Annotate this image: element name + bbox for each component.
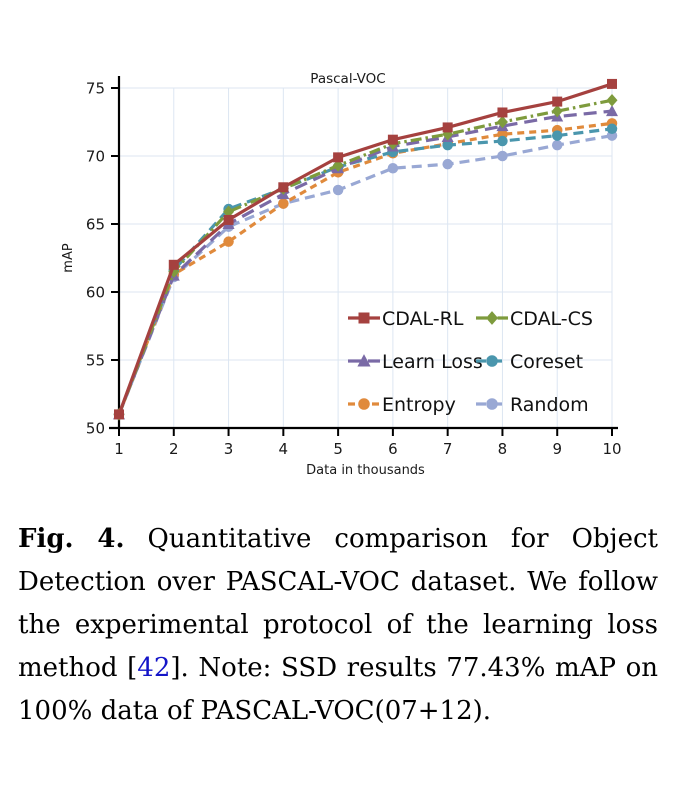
legend-item-cdal-rl[interactable]: CDAL-RL [348, 308, 464, 330]
data-point-marker [114, 409, 124, 419]
legend-marker-diamond-icon [486, 311, 498, 325]
x-axis-title: Data in thousands [306, 463, 425, 478]
legend-item-cdal-cs[interactable]: CDAL-CS [476, 308, 593, 330]
data-point-marker [278, 182, 288, 192]
x-tick-label: 8 [498, 440, 508, 458]
legend-item-random[interactable]: Random [476, 394, 589, 416]
data-point-marker [552, 140, 563, 151]
y-tick-label: 60 [86, 284, 105, 302]
data-point-marker [607, 94, 618, 107]
y-tick-label: 50 [86, 420, 105, 438]
x-tick-label: 10 [602, 440, 621, 458]
x-tick-label: 9 [552, 440, 562, 458]
chart-title: Pascal-VOC [310, 71, 385, 87]
legend-label: CDAL-RL [382, 308, 464, 330]
legend-item-entropy[interactable]: Entropy [348, 394, 456, 416]
data-point-marker [333, 185, 344, 196]
legend-marker-square-icon [359, 313, 370, 324]
x-tick-label: 4 [279, 440, 289, 458]
data-point-marker [552, 97, 562, 107]
x-tick-label: 2 [169, 440, 179, 458]
legend-marker-circle-icon [486, 398, 498, 410]
x-tick-label: 1 [114, 440, 124, 458]
citation-link-42[interactable]: 42 [137, 653, 170, 683]
data-point-marker [607, 79, 617, 89]
x-tick-label: 5 [333, 440, 343, 458]
series-entropy [114, 118, 618, 420]
data-point-marker [223, 236, 234, 247]
y-axis-title: mAP [61, 243, 76, 273]
line-chart: 505560657075mAP12345678910Data in thousa… [0, 0, 673, 500]
legend-label: Learn Loss [382, 351, 483, 373]
data-point-marker [552, 130, 563, 141]
data-point-marker [278, 198, 289, 209]
data-point-marker [333, 152, 343, 162]
x-tick-label: 3 [224, 440, 234, 458]
data-point-marker [169, 260, 179, 270]
legend-label: Random [510, 394, 589, 416]
legend-label: Coreset [510, 351, 583, 373]
legend-label: Entropy [382, 394, 456, 416]
data-point-marker [607, 124, 618, 135]
data-point-marker [442, 159, 453, 170]
axes [109, 76, 618, 428]
y-tick-label: 55 [86, 352, 105, 370]
legend-item-coreset[interactable]: Coreset [476, 351, 583, 373]
data-point-marker [443, 122, 453, 132]
figure-caption: Fig. 4. Quantitative comparison for Obje… [18, 518, 658, 733]
x-tick-label: 6 [388, 440, 398, 458]
y-tick-label: 70 [86, 148, 105, 166]
figure-label: Fig. 4. [18, 524, 125, 554]
legend-marker-circle-icon [358, 398, 370, 410]
data-point-marker [497, 136, 508, 147]
x-tick-label: 7 [443, 440, 453, 458]
data-point-marker [497, 151, 508, 162]
legend: CDAL-RLCDAL-CSLearn LossCoresetEntropyRa… [348, 308, 593, 416]
legend-marker-circle-icon [486, 355, 498, 367]
legend-label: CDAL-CS [510, 308, 593, 330]
data-point-marker [497, 107, 507, 117]
series-random [114, 130, 618, 419]
figure-panel: 505560657075mAP12345678910Data in thousa… [0, 0, 673, 500]
y-tick-label: 65 [86, 216, 105, 234]
gridlines [119, 88, 612, 428]
x-axis: 12345678910Data in thousands [114, 428, 621, 478]
y-tick-label: 75 [86, 80, 105, 98]
data-point-marker [224, 215, 234, 225]
legend-item-learn-loss[interactable]: Learn Loss [348, 351, 483, 373]
y-axis: 505560657075mAP [61, 80, 119, 438]
series-coreset [114, 124, 618, 420]
data-point-marker [552, 105, 563, 118]
data-point-marker [388, 135, 398, 145]
data-point-marker [388, 163, 399, 174]
